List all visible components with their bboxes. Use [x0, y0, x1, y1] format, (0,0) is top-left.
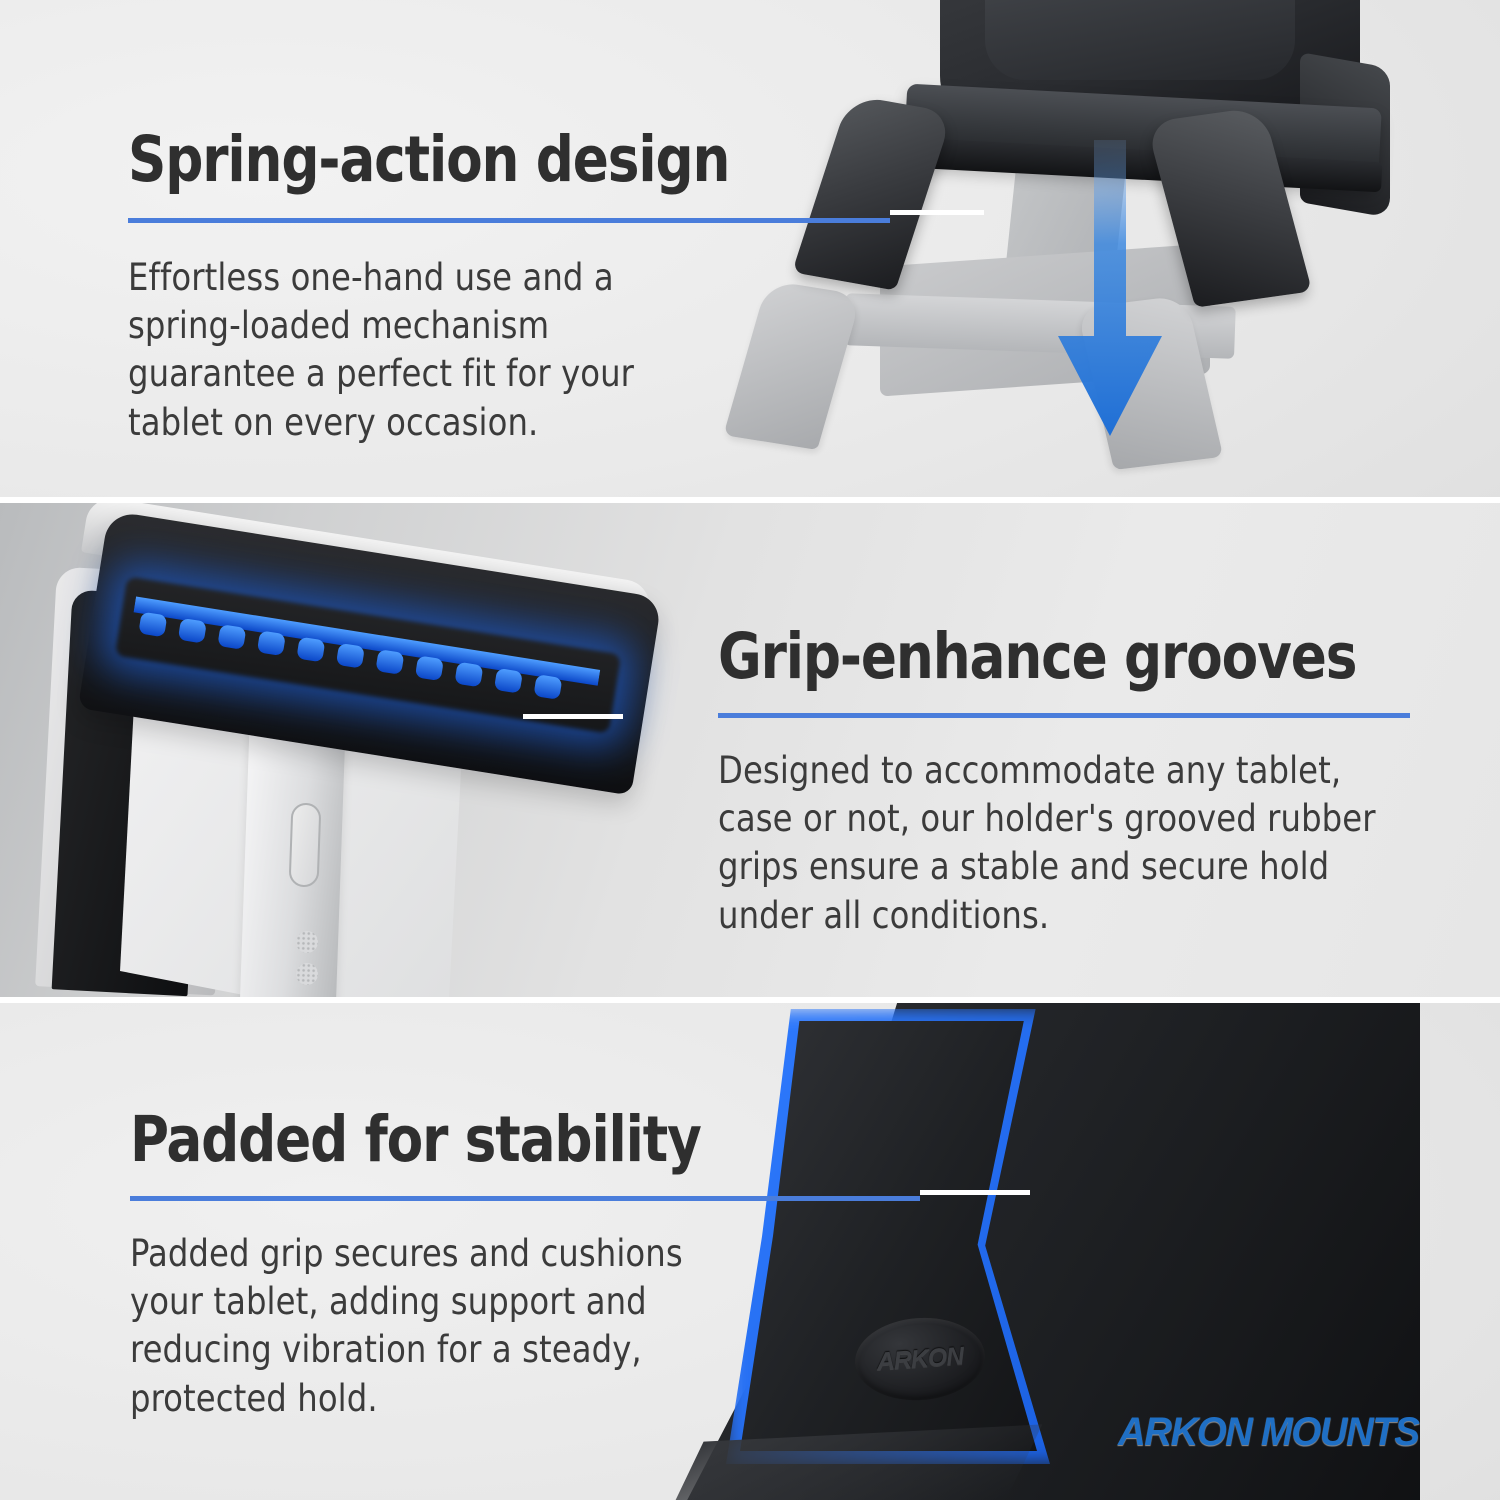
arkon-badge-label: ARKON: [852, 1314, 987, 1405]
arkon-mounts-logo-text: ARKON MOUNTS: [1118, 1410, 1419, 1454]
leader-line-white: [890, 210, 984, 215]
arkon-embossed-badge: ARKON: [852, 1314, 987, 1405]
panel-text-block: Grip-enhance grooves Designed to accommo…: [718, 625, 1418, 940]
accent-rule-blue: [128, 218, 890, 223]
panel-description: Effortless one-hand use and a spring-loa…: [128, 254, 710, 446]
feature-panel-grip-grooves: Grip-enhance grooves Designed to accommo…: [0, 503, 1500, 997]
page-title: Padded for stability: [130, 1108, 713, 1172]
holder-head-inset: [985, 0, 1295, 80]
leader-line-white: [523, 714, 623, 719]
panel-description: Designed to accommodate any tablet, case…: [718, 747, 1397, 939]
page-title: Grip-enhance grooves: [718, 625, 1376, 689]
accent-rule-blue: [718, 713, 1410, 718]
feature-panel-spring-action: Spring-action design Effortless one-hand…: [0, 0, 1500, 497]
panel-text-block: Spring-action design Effortless one-hand…: [128, 128, 748, 447]
holder-arm-left: [792, 95, 953, 291]
arkon-mounts-logo: ARKON MOUNTS: [1118, 1410, 1419, 1455]
panel-description: Padded grip secures and cushions your ta…: [130, 1230, 731, 1422]
tablet-power-button: [289, 803, 322, 888]
panel-text-block: Padded for stability Padded grip secures…: [130, 1108, 750, 1423]
accent-rule-blue: [130, 1196, 920, 1201]
accent-rule: [130, 1192, 920, 1204]
panel-divider: [0, 497, 1500, 503]
page-title: Spring-action design: [128, 128, 711, 192]
infographic-sheet: Spring-action design Effortless one-hand…: [0, 0, 1500, 1500]
panel-divider: [0, 997, 1500, 1003]
leader-line-white: [920, 1190, 1030, 1195]
accent-rule: [718, 709, 1410, 721]
down-arrow-icon: [1050, 140, 1170, 460]
accent-rule: [128, 214, 898, 226]
